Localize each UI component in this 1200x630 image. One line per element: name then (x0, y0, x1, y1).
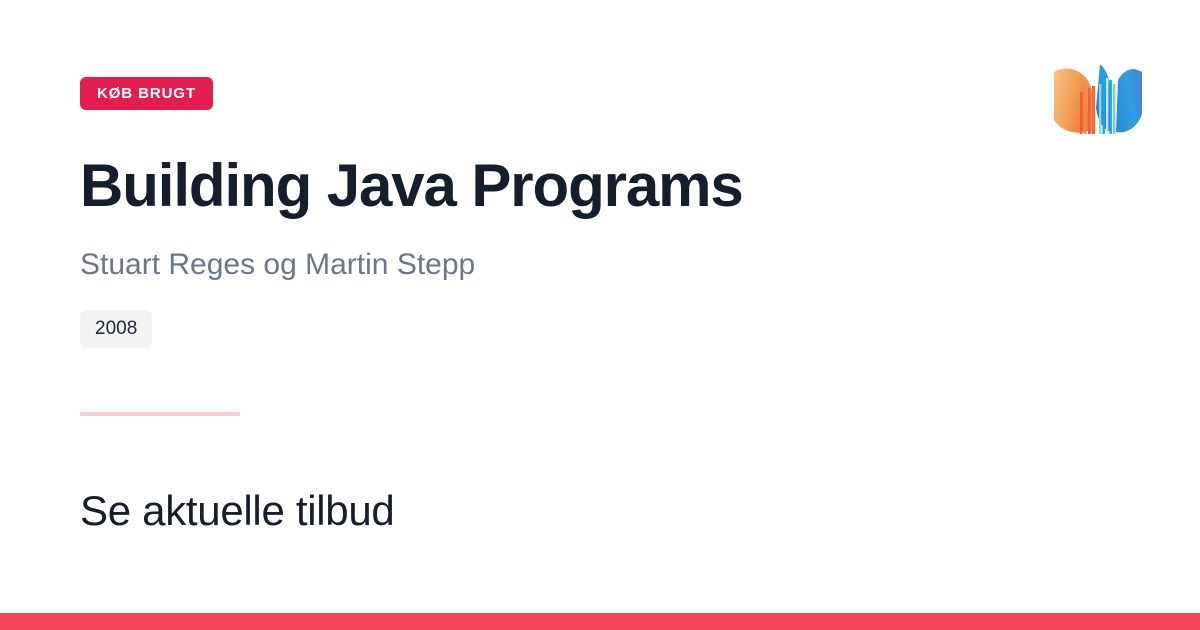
brand-logo (1044, 46, 1152, 156)
section-divider (80, 412, 240, 416)
logo-wings-group (1054, 64, 1142, 134)
cta-text[interactable]: Se aktuelle tilbud (80, 486, 394, 536)
publication-year-chip: 2008 (80, 310, 152, 348)
status-badge: KØB BRUGT (80, 77, 213, 110)
book-authors: Stuart Reges og Martin Stepp (80, 246, 475, 284)
bottom-accent-bar (0, 613, 1200, 630)
og-card: KØB BRUGT Building Java Programs Stuart … (0, 0, 1200, 630)
page-title: Building Java Programs (80, 154, 743, 218)
